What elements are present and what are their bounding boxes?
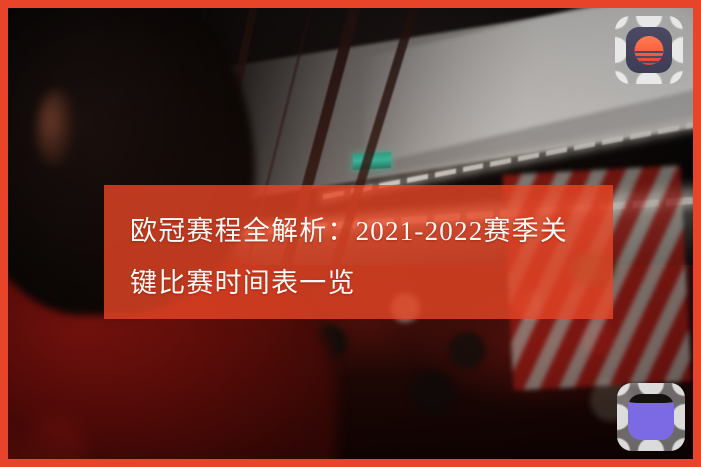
corner-dot [617,438,630,451]
sunset-icon-body [626,27,672,73]
corner-dot [615,16,628,29]
sun-stripe-icon [636,56,662,58]
jersey-fold [10,410,92,459]
ear-highlight [36,90,73,167]
title-banner: 欧冠赛程全解析：2021-2022赛季关键比赛时间表一览 [104,185,613,319]
page-title: 欧冠赛程全解析：2021-2022赛季关键比赛时间表一览 [130,205,587,309]
corner-dot [672,383,685,396]
corner-dot [615,71,628,84]
stadium-photo: 欧冠赛程全解析：2021-2022赛季关键比赛时间表一览 [8,8,693,459]
sun-stripe-icon [639,61,659,63]
purple-app-icon [617,383,685,451]
purple-icon-body [628,394,674,440]
icon-cap [628,394,674,403]
article-cover-image: 欧冠赛程全解析：2021-2022赛季关键比赛时间表一览 [0,0,701,467]
sun-stripe-icon [635,51,663,53]
corner-dot [617,383,630,396]
corner-dot [670,71,683,84]
sunset-app-icon [615,16,683,84]
corner-dot [672,438,685,451]
corner-dot [670,16,683,29]
